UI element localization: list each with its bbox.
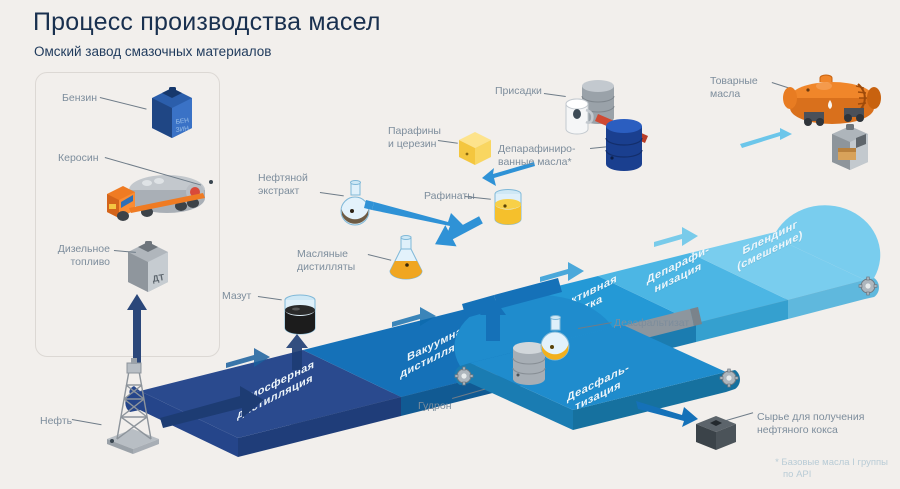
- label-dewaxed-oils: Депарафиниро- ванные масла*: [498, 143, 576, 168]
- label-gudron: Гудрон: [418, 400, 452, 413]
- label-additives: Присадки: [495, 85, 542, 98]
- label-diesel: Дизельное топливо: [47, 243, 110, 268]
- flask-deasphaltizate-icon: [535, 315, 577, 363]
- label-benzin: Бензин: [62, 92, 97, 105]
- page-subtitle: Омский завод смазочных материалов: [34, 44, 271, 59]
- jerrycan-blue-icon: БЕН ЗИН: [146, 84, 198, 140]
- label-mazut: Мазут: [222, 290, 251, 303]
- footnote: * Базовые масла I группы по API: [775, 457, 888, 481]
- arrow-atm-to-mazut: [284, 330, 314, 370]
- oil-canister-icon: [826, 122, 874, 174]
- page-title: Процесс производства масел: [33, 8, 381, 37]
- infographic-canvas: Процесс производства масел Омский завод …: [0, 0, 900, 489]
- label-oil-distillates: Масляные дистилляты: [297, 248, 355, 273]
- svg-text:ЗИН: ЗИН: [175, 125, 189, 134]
- label-commercial-oils: Товарные масла: [710, 75, 758, 100]
- arrow-blending-to-oils: [740, 110, 800, 156]
- label-oil-extract: Нефтяной экстракт: [258, 172, 308, 197]
- label-paraffins: Парафины и церезин: [388, 125, 441, 150]
- label-kerosin: Керосин: [58, 152, 99, 165]
- arrow-deasphalt-to-coke: [636, 395, 706, 435]
- label-deasphaltizate: Деасфальтизат: [614, 317, 689, 330]
- blue-drum-icon: [600, 114, 652, 178]
- label-coke-feedstock: Сырье для получения нефтяного кокса: [757, 411, 864, 436]
- arrow-neft-to-atm: [160, 380, 270, 430]
- label-neft: Нефть: [40, 415, 72, 428]
